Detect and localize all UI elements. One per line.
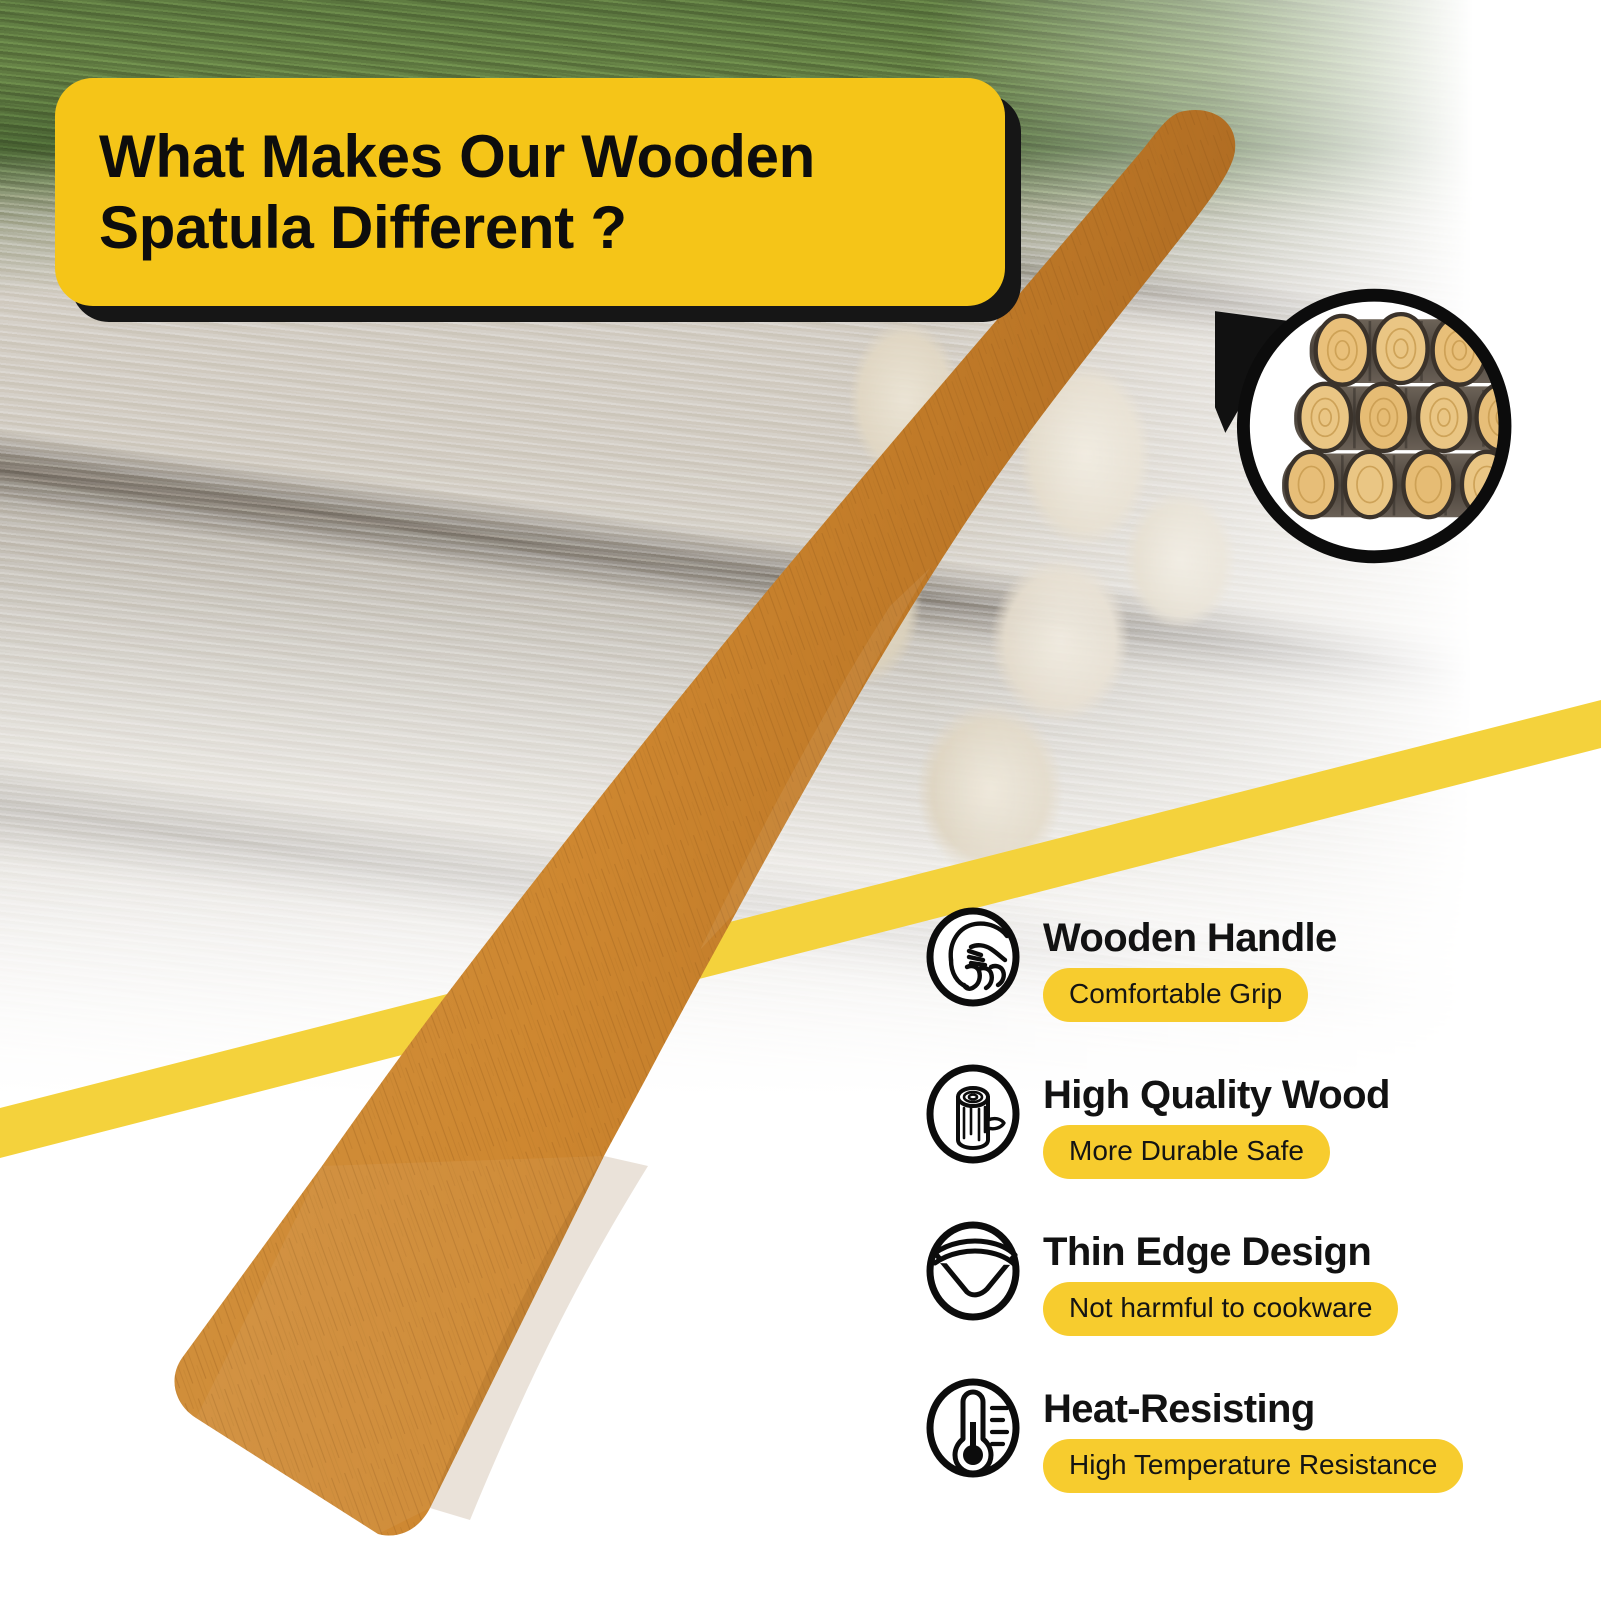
infographic-canvas: What Makes Our Wooden Spatula Different … [0,0,1601,1601]
feature-title: Heat-Resisting [1043,1388,1585,1430]
thin-edge-icon [925,1219,1021,1323]
page-title: What Makes Our Wooden Spatula Different … [99,121,815,264]
feature-badge: High Temperature Resistance [1043,1439,1463,1493]
feature-item-wooden-handle[interactable]: Wooden Handle Comfortable Grip [925,905,1585,1022]
headline-plaque: What Makes Our Wooden Spatula Different … [55,78,1005,306]
feature-item-high-quality-wood[interactable]: High Quality Wood More Durable Safe [925,1062,1585,1179]
feature-list: Wooden Handle Comfortable Grip [925,905,1585,1493]
feature-title: Thin Edge Design [1043,1231,1585,1273]
feature-badge: Not harmful to cookware [1043,1282,1398,1336]
hand-grip-icon [925,905,1021,1009]
thermometer-icon [925,1376,1021,1480]
feature-item-thin-edge[interactable]: Thin Edge Design Not harmful to cookware [925,1219,1585,1336]
wood-log-icon [925,1062,1021,1166]
feature-badge: More Durable Safe [1043,1125,1330,1179]
feature-badge: Comfortable Grip [1043,968,1308,1022]
magnified-logs-circle [1215,258,1585,594]
feature-title: High Quality Wood [1043,1074,1585,1116]
feature-title: Wooden Handle [1043,917,1585,959]
feature-item-heat-resisting[interactable]: Heat-Resisting High Temperature Resistan… [925,1376,1585,1493]
